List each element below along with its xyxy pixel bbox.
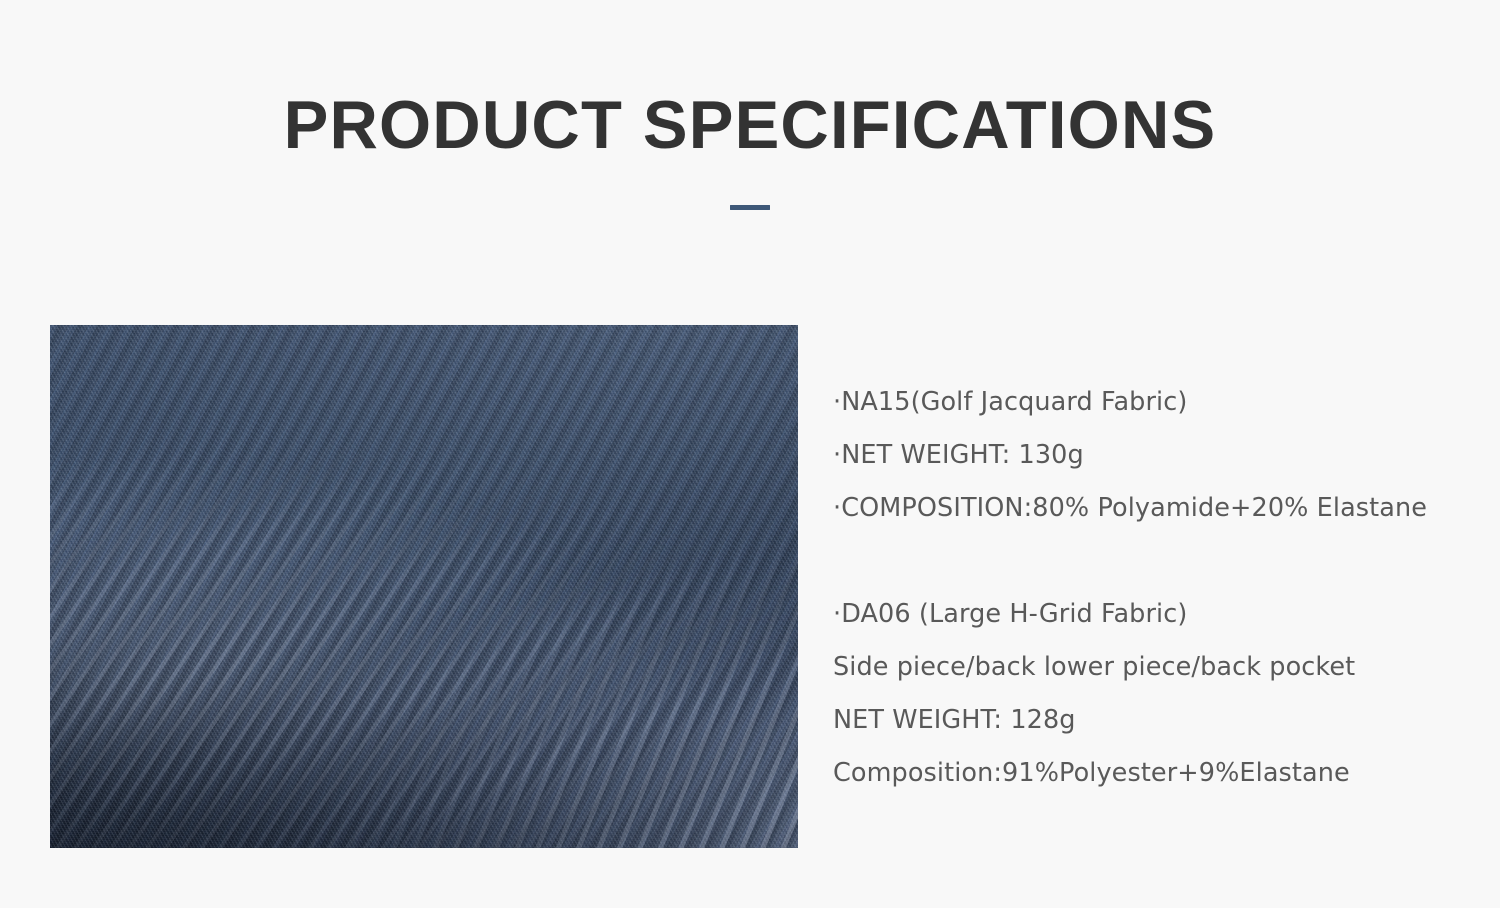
spec-group-na15: ·NA15(Golf Jacquard Fabric) ·NET WEIGHT:…	[833, 376, 1483, 535]
page-header: PRODUCT SPECIFICATIONS	[0, 88, 1500, 210]
product-specifications-page: PRODUCT SPECIFICATIONS ·NA15(Golf Jacqua…	[0, 0, 1500, 908]
fabric-photo	[50, 325, 798, 848]
fabric-vignette-layer	[50, 325, 798, 848]
spec-line: ·NA15(Golf Jacquard Fabric)	[833, 376, 1483, 429]
spec-group-da06: ·DA06 (Large H-Grid Fabric) Side piece/b…	[833, 588, 1483, 800]
page-title: PRODUCT SPECIFICATIONS	[11, 88, 1489, 162]
spec-line: ·COMPOSITION:80% Polyamide+20% Elastane	[833, 482, 1483, 535]
spec-line: Composition:91%Polyester+9%Elastane	[833, 747, 1483, 800]
spec-line: ·NET WEIGHT: 130g	[833, 429, 1483, 482]
spec-line: ·DA06 (Large H-Grid Fabric)	[833, 588, 1483, 641]
spec-line: Side piece/back lower piece/back pocket	[833, 641, 1483, 694]
title-underline-rule	[730, 205, 770, 210]
specifications-text-block: ·NA15(Golf Jacquard Fabric) ·NET WEIGHT:…	[833, 376, 1483, 800]
spec-line: NET WEIGHT: 128g	[833, 694, 1483, 747]
